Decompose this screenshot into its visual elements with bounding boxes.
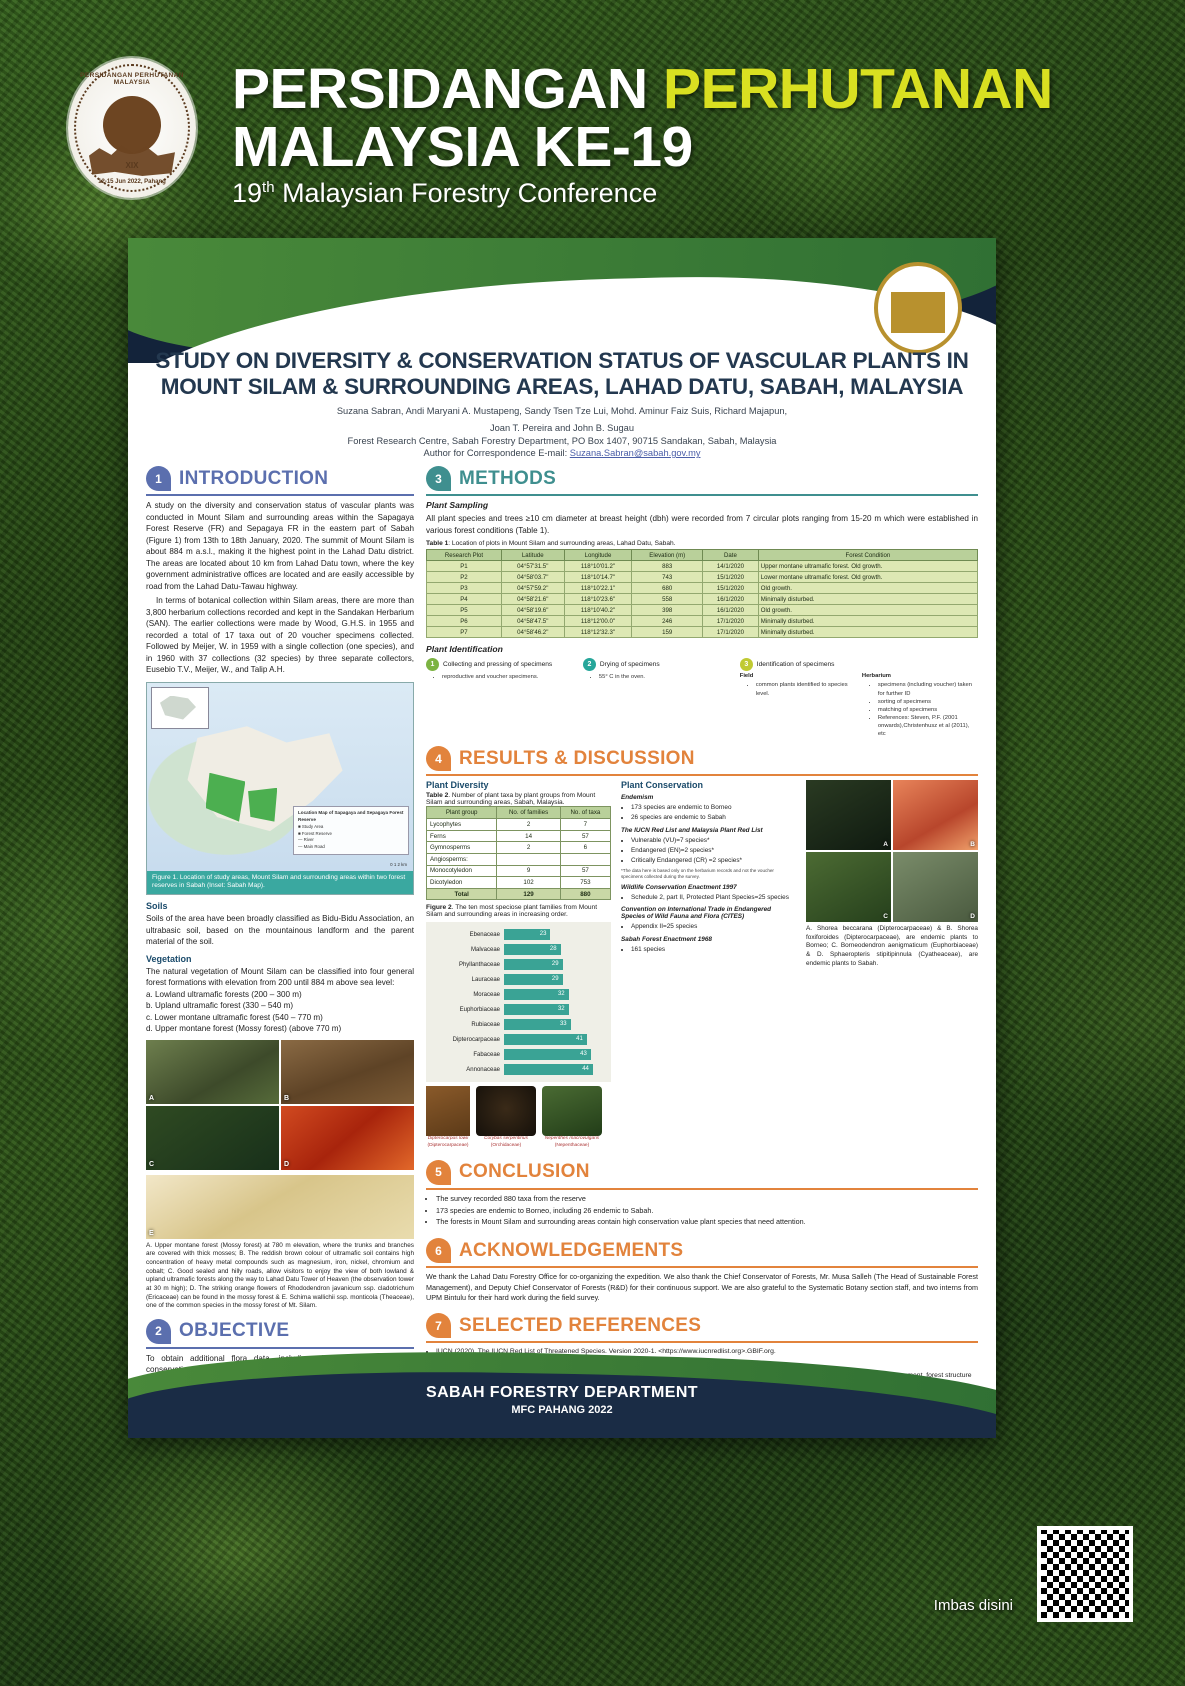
photo-label-d: D <box>284 1161 289 1168</box>
table-cell: 17/1/2020 <box>703 616 759 627</box>
iucn-item: Critically Endangered (CR) =2 species* <box>631 856 796 865</box>
step-2-title: Drying of specimens <box>600 661 660 668</box>
photo-mossy-forest: A <box>146 1040 279 1104</box>
chart-bar-row: Moraceae32 <box>432 988 605 1001</box>
chart-category-label: Phyllanthaceae <box>432 962 504 968</box>
department-logo <box>874 262 962 354</box>
herbarium-bullet: sorting of specimens <box>878 698 978 706</box>
chart-bar-track: 44 <box>504 1064 605 1075</box>
scan-block: Imbas disini <box>1037 1526 1133 1622</box>
soils-text: Soils of the area have been broadly clas… <box>146 913 414 947</box>
poster-body: STUDY ON DIVERSITY & CONSERVATION STATUS… <box>128 346 996 1352</box>
step-3-herbarium-col: Herbarium specimens (including voucher) … <box>862 673 978 738</box>
specimen-dipterocarpus: Dipterocarpus lowii (Dipterocarpaceae) <box>426 1086 470 1149</box>
step-2-bullet: 55° C in the oven. <box>599 673 732 681</box>
section-number-6: 6 <box>426 1238 451 1263</box>
table-row: P104°57'31.5"118°10'01.2"88314/1/2020Upp… <box>427 561 978 572</box>
results-col-conservation: Plant Conservation Endemism 173 species … <box>621 780 796 1150</box>
chart-bar: 44 <box>504 1064 593 1075</box>
figure-1-map: Location Map of Sapagaya and Sepagaya Fo… <box>146 682 414 896</box>
introduction-rule <box>146 494 414 496</box>
chart-bar-track: 41 <box>504 1034 605 1045</box>
plate-caption: A. Shorea beccarana (Dipterocarpaceae) &… <box>806 925 978 968</box>
specimen-image-dipterocarpus <box>426 1086 470 1136</box>
section-header-objective: 2 OBJECTIVE <box>146 1319 414 1344</box>
table-1-col-longitude: Longitude <box>564 550 632 561</box>
chart-bar: 32 <box>504 1004 569 1015</box>
specimen-corybas: Corybas serpentinus (Orchidaceae) <box>476 1086 536 1149</box>
table-cell: P6 <box>427 616 502 627</box>
table-cell: Old growth. <box>758 583 977 594</box>
plate-borneodendron: C <box>806 852 891 922</box>
chart-bar-value: 33 <box>560 1019 567 1030</box>
vegetation-text: The natural vegetation of Mount Silam ca… <box>146 966 414 989</box>
table-cell <box>497 853 560 865</box>
vegetation-item-b: b. Upland ultramafic forest (330 – 540 m… <box>146 1000 414 1011</box>
title-word-persidangan: PERSIDANGAN <box>232 57 663 121</box>
herbarium-bullet: specimens (including voucher) taken for … <box>878 681 978 697</box>
table-cell: P4 <box>427 594 502 605</box>
conference-title-block: PERSIDANGAN PERHUTANAN MALAYSIA KE-19 19… <box>232 62 1062 209</box>
section-header-results: 4 RESULTS & DISCUSSION <box>426 746 978 771</box>
photo-road-view: C <box>146 1106 279 1170</box>
section-number-3: 3 <box>426 466 451 491</box>
table-cell: 57 <box>560 830 610 842</box>
table-cell: Monocotyledon <box>427 865 497 877</box>
table-cell: 16/1/2020 <box>703 605 759 616</box>
section-number-1: 1 <box>146 466 171 491</box>
table-row: Angiosperms: <box>427 853 611 865</box>
qr-code[interactable] <box>1037 1526 1133 1622</box>
map-inset-sabah <box>151 687 209 729</box>
methods-rule <box>426 494 978 496</box>
endemism-item: 173 species are endemic to Borneo <box>631 803 796 812</box>
results-col-plates: A B C D A. Shorea beccarana (Dipterocarp… <box>806 780 978 1150</box>
section-number-4: 4 <box>426 746 451 771</box>
table-2-caption-rest: . Number of plant taxa by plant groups f… <box>426 792 595 806</box>
map-legend-item: — Main Road <box>298 844 404 851</box>
chart-bar: 32 <box>504 989 569 1000</box>
footer-event: MFC PAHANG 2022 <box>128 1404 996 1416</box>
chart-bar-value: 23 <box>540 929 547 940</box>
poster-columns: 1 INTRODUCTION A study on the diversity … <box>146 466 978 1392</box>
table-row: P604°58'47.5"118°12'00.0"24617/1/2020Min… <box>427 616 978 627</box>
subtitle-number: 19 <box>232 178 262 208</box>
table-1-col-latitude: Latitude <box>501 550 564 561</box>
table-2-col-families: No. of families <box>497 807 560 819</box>
table-cell: 04°58'46.2" <box>501 627 564 638</box>
section-header-introduction: 1 INTRODUCTION <box>146 466 414 491</box>
table-cell: 2 <box>497 842 560 854</box>
table-total-cell: Total <box>427 888 497 900</box>
table-cell: 118°10'40.2" <box>564 605 632 616</box>
table-total-row: Total129880 <box>427 888 611 900</box>
chart-category-label: Rubiaceae <box>432 1022 504 1028</box>
section-number-5: 5 <box>426 1160 451 1185</box>
table-row: Ferns1457 <box>427 830 611 842</box>
references-rule <box>426 1341 978 1343</box>
map-legend-item: ■ Forest Reserve <box>298 831 404 838</box>
section-title-objective: OBJECTIVE <box>179 1320 289 1342</box>
table-cell: 743 <box>632 572 703 583</box>
poster-authors-line2: Joan T. Pereira and John B. Sugau <box>146 422 978 434</box>
table-cell: 118°10'22.1" <box>564 583 632 594</box>
table-1-caption-bold: Table 1 <box>426 540 448 547</box>
iucn-list: Vulnerable (VU)=7 species* Endangered (E… <box>631 836 796 866</box>
chart-category-label: Moraceae <box>432 992 504 998</box>
chart-bar-track: 33 <box>504 1019 605 1030</box>
table-cell: 04°58'47.5" <box>501 616 564 627</box>
step-1-header: 1 Collecting and pressing of specimens <box>426 658 575 671</box>
sfe-list: 161 species <box>631 945 796 954</box>
table-1-body: P104°57'31.5"118°10'01.2"88314/1/2020Upp… <box>427 561 978 638</box>
table-cell: 04°58'03.7" <box>501 572 564 583</box>
section-number-2: 2 <box>146 1319 171 1344</box>
plate-shorea-beccariana: A <box>806 780 891 850</box>
table-cell: 04°58'19.6" <box>501 605 564 616</box>
correspondence-email-link[interactable]: Suzana.Sabran@sabah.gov.my <box>570 448 701 458</box>
chart-bar-value: 32 <box>558 989 565 1000</box>
chart-bar-track: 28 <box>504 944 605 955</box>
endemism-heading: Endemism <box>621 794 796 801</box>
footer-department: SABAH FORESTRY DEPARTMENT <box>128 1384 996 1402</box>
specimen-family-3: (Nepenthaceae) <box>555 1143 589 1148</box>
endemism-list: 173 species are endemic to Borneo 26 spe… <box>631 803 796 823</box>
section-header-conclusion: 5 CONCLUSION <box>426 1160 978 1185</box>
table-cell: 17/1/2020 <box>703 627 759 638</box>
chart-bar-track: 29 <box>504 974 605 985</box>
table-cell: Minimally disturbed. <box>758 616 977 627</box>
left-photo-grid-2: E <box>146 1175 414 1239</box>
step-3-title: Identification of specimens <box>757 661 835 668</box>
chart-category-label: Ebenaceae <box>432 932 504 938</box>
map-scale-bar: 0 1 2 km <box>390 862 407 867</box>
left-column: 1 INTRODUCTION A study on the diversity … <box>146 466 414 1392</box>
conclusion-rule <box>426 1188 978 1190</box>
subtitle-text: Malaysian Forestry Conference <box>275 178 658 208</box>
left-photo-grid: A B C D <box>146 1040 414 1170</box>
table-total-cell: 880 <box>560 888 610 900</box>
table-row: P704°58'46.2"118°12'32.3"15917/1/2020Min… <box>427 627 978 638</box>
chart-bar-value: 28 <box>550 944 557 955</box>
section-title-introduction: INTRODUCTION <box>179 468 328 490</box>
acknowledgements-rule <box>426 1266 978 1268</box>
herbarium-bullet: matching of specimens <box>878 706 978 714</box>
specimen-caption-nepenthes: Nepenthes macrovulgaris (Nepenthaceae) <box>542 1136 602 1149</box>
map-legend-item: — River <box>298 837 404 844</box>
table-2-header-row: Plant group No. of families No. of taxa <box>427 807 611 819</box>
wildlife-heading: Wildlife Conservation Enactment 1997 <box>621 884 796 891</box>
section-header-references: 7 SELECTED REFERENCES <box>426 1313 978 1338</box>
field-heading: Field <box>740 673 856 679</box>
poster-footer-text: SABAH FORESTRY DEPARTMENT MFC PAHANG 202… <box>128 1384 996 1416</box>
table-cell: 246 <box>632 616 703 627</box>
table-cell: Lycophytes <box>427 819 497 831</box>
table-cell: Lower montane ultramafic forest. Old gro… <box>758 572 977 583</box>
chart-bar-value: 43 <box>580 1049 587 1060</box>
table-cell: 2 <box>497 819 560 831</box>
chart-category-label: Dipterocarpaceae <box>432 1037 504 1043</box>
chart-bar-row: Euphorbiaceae32 <box>432 1003 605 1016</box>
herbarium-bullets: specimens (including voucher) taken for … <box>878 681 978 738</box>
herbarium-heading: Herbarium <box>862 673 978 679</box>
specimen-image-nepenthes <box>542 1086 602 1136</box>
table-cell: 118°12'00.0" <box>564 616 632 627</box>
poster-affiliation: Forest Research Centre, Sabah Forestry D… <box>146 435 978 447</box>
specimen-name-3: Nepenthes macrovulgaris <box>545 1136 599 1141</box>
chart-bar-row: Annonaceae44 <box>432 1063 605 1076</box>
figure-2-caption: Figure 2. The ten most speciose plant fa… <box>426 904 611 918</box>
specimen-name-2: Corybas serpentinus <box>484 1136 528 1141</box>
section-title-acknowledgements: ACKNOWLEDGEMENTS <box>459 1240 683 1262</box>
table-1-col-date: Date <box>703 550 759 561</box>
figure-1-caption: Figure 1. Location of study areas, Mount… <box>147 871 413 895</box>
specimen-family-1: (Dipterocarpaceae) <box>427 1143 468 1148</box>
logo-date-text: 12-15 Jun 2022, Pahang <box>68 179 196 185</box>
logo-roman-numeral: XIX <box>68 161 196 170</box>
chart-bar-value: 41 <box>576 1034 583 1045</box>
chart-bar-value: 29 <box>552 974 559 985</box>
chart-bar-row: Phyllanthaceae29 <box>432 958 605 971</box>
map-study-area-2 <box>248 788 277 822</box>
vegetation-item-a: a. Lowland ultramafic forests (200 – 300… <box>146 989 414 1000</box>
figure-2-caption-rest: . The ten most speciose plant families f… <box>426 904 597 918</box>
chart-bar-row: Ebenaceae23 <box>432 928 605 941</box>
chart-category-label: Fabaceae <box>432 1052 504 1058</box>
plate-label-d: D <box>970 913 975 920</box>
table-cell: Dicotyledon <box>427 877 497 889</box>
email-label: Author for Correspondence E-mail: <box>424 448 570 458</box>
plate-label-a: A <box>883 841 888 848</box>
chart-bar-track: 29 <box>504 959 605 970</box>
right-column: 3 METHODS Plant Sampling All plant speci… <box>426 466 978 1392</box>
chart-category-label: Malvaceae <box>432 947 504 953</box>
table-row: P304°57'59.2"118°10'22.1"68015/1/2020Old… <box>427 583 978 594</box>
step-3-header: 3 Identification of specimens <box>740 658 978 671</box>
step-1-bullet: reproductive and voucher specimens. <box>442 673 575 681</box>
table-cell: 7 <box>560 819 610 831</box>
chart-bar: 29 <box>504 959 563 970</box>
logo-top-text: PERSIDANGAN PERHUTANAN MALAYSIA <box>68 72 196 86</box>
chart-bar: 28 <box>504 944 561 955</box>
photo-label-a: A <box>149 1095 154 1102</box>
table-1-plot-locations: Research Plot Latitude Longitude Elevati… <box>426 549 978 638</box>
cites-heading: Convention on International Trade in End… <box>621 906 796 920</box>
conference-logo: PERSIDANGAN PERHUTANAN MALAYSIA XIX 12-1… <box>68 58 196 198</box>
section-title-conclusion: CONCLUSION <box>459 1161 590 1183</box>
table-cell: 159 <box>632 627 703 638</box>
table-1-header-row: Research Plot Latitude Longitude Elevati… <box>427 550 978 561</box>
table-cell: 14/1/2020 <box>703 561 759 572</box>
table-1-col-condition: Forest Condition <box>758 550 977 561</box>
table-cell: Minimally disturbed. <box>758 627 977 638</box>
vegetation-heading: Vegetation <box>146 954 414 964</box>
table-cell: 15/1/2020 <box>703 572 759 583</box>
table-row: Gymnosperms26 <box>427 842 611 854</box>
acknowledgements-text: We thank the Lahad Datu Forestry Office … <box>426 1272 978 1303</box>
table-cell: 15/1/2020 <box>703 583 759 594</box>
step-number-2: 2 <box>583 658 596 671</box>
section-title-references: SELECTED REFERENCES <box>459 1315 701 1337</box>
table-total-cell: 129 <box>497 888 560 900</box>
table-row: P204°58'03.7"118°10'14.7"74315/1/2020Low… <box>427 572 978 583</box>
results-columns: Plant Diversity Table 2. Number of plant… <box>426 780 978 1150</box>
endemism-item: 26 species are endemic to Sabah <box>631 813 796 822</box>
chart-bar-row: Malvaceae28 <box>432 943 605 956</box>
chart-category-label: Euphorbiaceae <box>432 1007 504 1013</box>
chart-bar-row: Rubiaceae33 <box>432 1018 605 1031</box>
qr-code-pattern <box>1041 1530 1129 1618</box>
table-cell: 04°58'21.6" <box>501 594 564 605</box>
table-1-caption-rest: : Location of plots in Mount Silam and s… <box>448 540 675 547</box>
chart-bar-value: 29 <box>552 959 559 970</box>
table-cell: Old growth. <box>758 605 977 616</box>
step-2: 2 Drying of specimens 55° C in the oven. <box>583 658 732 738</box>
specimen-caption-corybas: Corybas serpentinus (Orchidaceae) <box>476 1136 536 1149</box>
conference-title-line1: PERSIDANGAN PERHUTANAN <box>232 62 1062 118</box>
table-cell: 14 <box>497 830 560 842</box>
iucn-note: *The data here is based only on the herb… <box>621 868 796 880</box>
table-cell: 04°57'59.2" <box>501 583 564 594</box>
section-header-methods: 3 METHODS <box>426 466 978 491</box>
herbarium-bullet: References: Steven, P.F. (2001 onwards),… <box>878 714 978 738</box>
step-2-bullets: 55° C in the oven. <box>599 673 732 681</box>
table-cell: P5 <box>427 605 502 616</box>
table-row: Monocotyledon957 <box>427 865 611 877</box>
photo-label-c: C <box>149 1161 154 1168</box>
table-2-col-taxa: No. of taxa <box>560 807 610 819</box>
plate-label-c: C <box>883 913 888 920</box>
poster-title: STUDY ON DIVERSITY & CONSERVATION STATUS… <box>146 346 978 400</box>
table-cell: P2 <box>427 572 502 583</box>
specimen-caption-dipterocarpus: Dipterocarpus lowii (Dipterocarpaceae) <box>426 1136 470 1149</box>
scan-label: Imbas disini <box>934 1597 1013 1614</box>
chart-bar-track: 23 <box>504 929 605 940</box>
table-cell: 57 <box>560 865 610 877</box>
conclusion-list: The survey recorded 880 taxa from the re… <box>436 1194 978 1228</box>
figure-2-caption-bold: Figure 2 <box>426 904 452 911</box>
sfe-item: 161 species <box>631 945 796 954</box>
cites-item: Appendix II=25 species <box>631 922 796 931</box>
table-cell: P3 <box>427 583 502 594</box>
map-image: Location Map of Sapagaya and Sepagaya Fo… <box>147 683 413 871</box>
chart-bar: 41 <box>504 1034 587 1045</box>
step-3-columns: Field common plants identified to specie… <box>740 673 978 738</box>
conference-subtitle: 19th Malaysian Forestry Conference <box>232 178 1062 209</box>
step-2-header: 2 Drying of specimens <box>583 658 732 671</box>
map-legend-item: ■ Study Area <box>298 824 404 831</box>
vegetation-item-c: c. Lower montane ultramafic forest (540 … <box>146 1012 414 1023</box>
table-cell: 398 <box>632 605 703 616</box>
tree-icon <box>901 267 935 289</box>
conference-header: PERSIDANGAN PERHUTANAN MALAYSIA XIX 12-1… <box>0 0 1185 235</box>
table-1-col-plot: Research Plot <box>427 550 502 561</box>
table-cell: Upper montane ultramafic forest. Old gro… <box>758 561 977 572</box>
chart-bar-track: 32 <box>504 1004 605 1015</box>
field-bullets: common plants identified to species leve… <box>756 681 856 697</box>
step-3: 3 Identification of specimens Field comm… <box>740 658 978 738</box>
chart-category-label: Annonaceae <box>432 1067 504 1073</box>
chart-bar-track: 43 <box>504 1049 605 1060</box>
photo-schima-flower: E <box>146 1175 414 1239</box>
chart-bar-value: 44 <box>582 1064 589 1075</box>
plant-conservation-heading: Plant Conservation <box>621 780 796 790</box>
table-row: Lycophytes27 <box>427 819 611 831</box>
table-cell: Angiosperms: <box>427 853 497 865</box>
figure-2-bar-chart: Ebenaceae23Malvaceae28Phyllanthaceae29La… <box>426 922 611 1082</box>
table-cell: 118°10'14.7" <box>564 572 632 583</box>
introduction-paragraph-1: A study on the diversity and conservatio… <box>146 500 414 592</box>
table-2-col-group: Plant group <box>427 807 497 819</box>
chart-bar: 33 <box>504 1019 571 1030</box>
table-2-plant-taxa: Plant group No. of families No. of taxa … <box>426 806 611 900</box>
table-cell <box>560 853 610 865</box>
plant-diversity-heading: Plant Diversity <box>426 780 611 790</box>
chart-bar: 29 <box>504 974 563 985</box>
table-cell: 6 <box>560 842 610 854</box>
poster-authors-line1: Suzana Sabran, Andi Maryani A. Mustapeng… <box>146 405 978 417</box>
results-rule <box>426 774 978 776</box>
conclusion-item: The survey recorded 880 taxa from the re… <box>436 1194 978 1205</box>
table-cell: P7 <box>427 627 502 638</box>
conclusion-item: 173 species are endemic to Borneo, inclu… <box>436 1206 978 1217</box>
plant-sampling-text: All plant species and trees ≥10 cm diame… <box>426 513 978 536</box>
table-1-col-elevation: Elevation (m) <box>632 550 703 561</box>
table-cell: 118°10'01.2" <box>564 561 632 572</box>
table-cell: 753 <box>560 877 610 889</box>
table-row: P404°58'21.6"118°10'23.6"55816/1/2020Min… <box>427 594 978 605</box>
introduction-body: A study on the diversity and conservatio… <box>146 500 414 675</box>
table-cell: 16/1/2020 <box>703 594 759 605</box>
cites-list: Appendix II=25 species <box>631 922 796 931</box>
field-bullet: common plants identified to species leve… <box>756 681 856 697</box>
table-2-caption: Table 2. Number of plant taxa by plant g… <box>426 792 611 806</box>
table-cell: 680 <box>632 583 703 594</box>
map-legend-title: Location Map of Sapagaya and Sepagaya Fo… <box>298 810 403 822</box>
table-cell: 118°12'32.3" <box>564 627 632 638</box>
soils-heading: Soils <box>146 901 414 911</box>
vegetation-item-d: d. Upper montane forest (Mossy forest) (… <box>146 1023 414 1034</box>
table-cell: Minimally disturbed. <box>758 594 977 605</box>
chart-bar-row: Fabaceae43 <box>432 1048 605 1061</box>
map-legend: Location Map of Sapagaya and Sepagaya Fo… <box>293 806 409 854</box>
subtitle-ordinal: th <box>262 179 275 196</box>
plant-identification-heading: Plant Identification <box>426 644 978 654</box>
iucn-heading: The IUCN Red List and Malaysia Plant Red… <box>621 827 796 834</box>
table-cell: 118°10'23.6" <box>564 594 632 605</box>
step-number-1: 1 <box>426 658 439 671</box>
step-1: 1 Collecting and pressing of specimens r… <box>426 658 575 738</box>
step-1-bullets: reproductive and voucher specimens. <box>442 673 575 681</box>
introduction-paragraph-2: In terms of botanical collection within … <box>146 595 414 675</box>
endemic-plant-plate-grid: A B C D <box>806 780 978 922</box>
specimen-nepenthes: Nepenthes macrovulgaris (Nepenthaceae) <box>542 1086 602 1149</box>
table-cell: 883 <box>632 561 703 572</box>
sfe-heading: Sabah Forest Enactment 1968 <box>621 936 796 943</box>
conference-title-line2: MALAYSIA KE-19 <box>232 118 1062 176</box>
chart-bar-value: 32 <box>558 1004 565 1015</box>
plate-label-b: B <box>970 841 975 848</box>
specimen-image-corybas <box>476 1086 536 1136</box>
chart-category-label: Lauraceae <box>432 977 504 983</box>
chart-bar-track: 32 <box>504 989 605 1000</box>
crest-icon <box>891 283 945 333</box>
table-2-caption-bold: Table 2 <box>426 792 448 799</box>
table-cell: 558 <box>632 594 703 605</box>
title-word-perhutanan: PERHUTANAN <box>663 57 1053 121</box>
step-3-field-col: Field common plants identified to specie… <box>740 673 856 738</box>
specimen-name-1: Dipterocarpus lowii <box>428 1136 469 1141</box>
